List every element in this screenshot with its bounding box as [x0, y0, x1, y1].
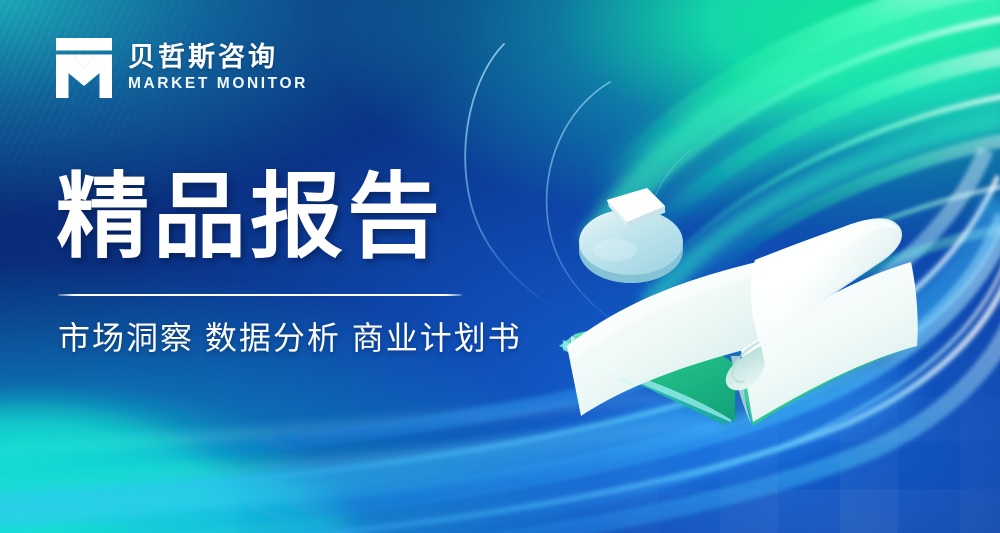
- brand-logo-text: 贝哲斯咨询 MARKET MONITOR: [128, 44, 308, 92]
- report-promo-banner: 贝哲斯咨询 MARKET MONITOR 精品报告 市场洞察 数据分析 商业计划…: [0, 0, 1000, 533]
- page-subtitle: 市场洞察 数据分析 商业计划书: [58, 322, 526, 354]
- headline-block: 精品报告 市场洞察 数据分析 商业计划书: [56, 170, 526, 354]
- page-title: 精品报告: [56, 170, 526, 265]
- market-monitor-m-logo-icon: [56, 38, 112, 98]
- brand-name-cn: 贝哲斯咨询: [128, 44, 308, 71]
- open-book-icon: [545, 150, 945, 450]
- title-divider: [58, 294, 462, 296]
- brand-logo[interactable]: 贝哲斯咨询 MARKET MONITOR: [56, 38, 308, 98]
- brand-name-en: MARKET MONITOR: [128, 76, 308, 92]
